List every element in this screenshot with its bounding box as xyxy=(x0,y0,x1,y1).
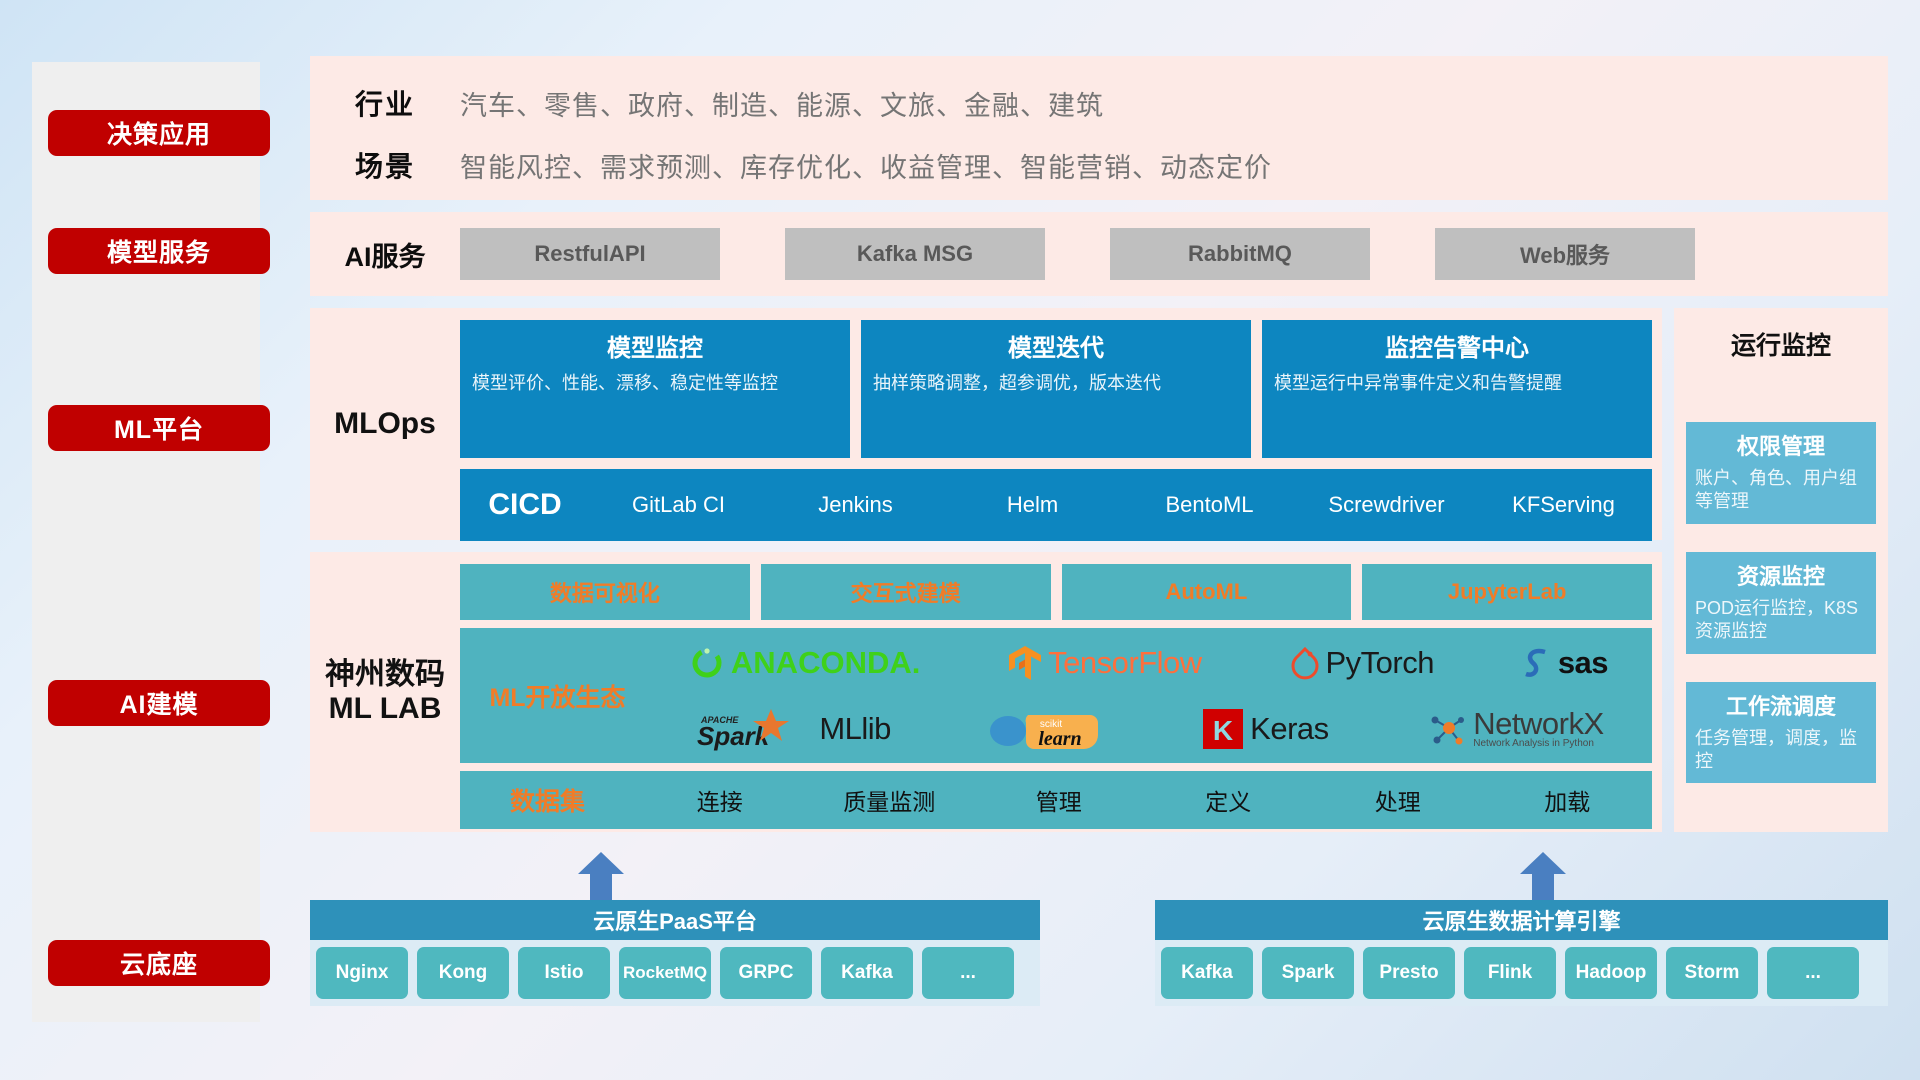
svg-text:Spark: Spark xyxy=(697,721,771,751)
paas-chip-istio[interactable]: Istio xyxy=(518,947,610,999)
cicd-item-screwdriver[interactable]: Screwdriver xyxy=(1298,493,1475,517)
mlops-card-model-iteration[interactable]: 模型迭代 抽样策略调整，超参调优，版本迭代 xyxy=(861,320,1251,458)
tensorflow-icon xyxy=(1008,644,1042,682)
ai-service-band: AI服务 RestfulAPI Kafka MSG RabbitMQ Web服务 xyxy=(310,212,1888,296)
scenario-row: 场景 智能风控、需求预测、库存优化、收益管理、智能营销、动态定价 xyxy=(310,140,1888,190)
scikit-learn-logo: scikit learn xyxy=(988,707,1106,751)
tool-chip-data-visualization[interactable]: 数据可视化 xyxy=(460,564,750,620)
anaconda-wordmark: ANACONDA. xyxy=(731,645,920,681)
dataset-item-manage[interactable]: 管理 xyxy=(974,783,1144,817)
ml-ecosystem-logo-row-2: APACHE Spark MLlib xyxy=(645,697,1652,761)
data-compute-engine-column: 云原生数据计算引擎 Kafka Spark Presto Flink Hadoo… xyxy=(1155,900,1888,1006)
monitoring-card-permissions[interactable]: 权限管理 账户、角色、用户组等管理 xyxy=(1686,422,1876,524)
data-compute-engine-title: 云原生数据计算引擎 xyxy=(1155,900,1888,940)
card-title: 模型监控 xyxy=(472,328,838,363)
scenario-label: 场景 xyxy=(310,145,460,185)
stage-chip-model-service[interactable]: 模型服务 xyxy=(48,228,270,274)
dataset-item-process[interactable]: 处理 xyxy=(1313,783,1483,817)
pytorch-wordmark: PyTorch xyxy=(1326,645,1434,681)
tool-chip-jupyterlab[interactable]: JupyterLab xyxy=(1362,564,1652,620)
cicd-title: CICD xyxy=(460,488,590,522)
stage-chip-label: 决策应用 xyxy=(107,115,211,151)
card-title: 工作流调度 xyxy=(1695,689,1867,721)
ai-service-label: AI服务 xyxy=(310,235,460,274)
up-arrow-icon-compute xyxy=(1520,852,1566,902)
cicd-bar: CICD GitLab CI Jenkins Helm BentoML Scre… xyxy=(460,469,1652,541)
runtime-monitoring-title: 运行监控 xyxy=(1686,318,1876,376)
paas-chip-grpc[interactable]: GRPC xyxy=(720,947,812,999)
mlops-card-model-monitoring[interactable]: 模型监控 模型评价、性能、漂移、稳定性等监控 xyxy=(460,320,850,458)
stage-chip-ml-platform[interactable]: ML平台 xyxy=(48,405,270,451)
ml-lab-label-line2: ML LAB xyxy=(329,692,442,727)
paas-chip-kong[interactable]: Kong xyxy=(417,947,509,999)
keras-logo: K Keras xyxy=(1202,708,1328,750)
keras-wordmark: Keras xyxy=(1250,711,1328,747)
stage-chip-label: 云底座 xyxy=(120,945,198,981)
cicd-item-gitlab-ci[interactable]: GitLab CI xyxy=(590,493,767,517)
industry-values: 汽车、零售、政府、制造、能源、文旅、金融、建筑 xyxy=(460,84,1104,123)
scenario-values: 智能风控、需求预测、库存优化、收益管理、智能营销、动态定价 xyxy=(460,146,1272,185)
keras-icon: K xyxy=(1202,708,1244,750)
stage-chip-label: 模型服务 xyxy=(107,233,211,269)
networkx-icon xyxy=(1425,708,1467,750)
sas-icon xyxy=(1522,646,1552,680)
networkx-logo: NetworkX Network Analysis in Python xyxy=(1425,708,1603,750)
dataset-row: 数据集 连接 质量监测 管理 定义 处理 加载 xyxy=(460,771,1652,829)
tensorflow-wordmark: TensorFlow xyxy=(1048,645,1202,681)
networkx-tagline: Network Analysis in Python xyxy=(1473,739,1603,749)
paas-platform-title: 云原生PaaS平台 xyxy=(310,900,1040,940)
tool-chip-list: 数据可视化 交互式建模 AutoML JupyterLab xyxy=(460,564,1652,620)
spark-icon: APACHE Spark xyxy=(693,707,813,751)
mlops-label: MLOps xyxy=(310,320,460,528)
dataset-item-quality[interactable]: 质量监测 xyxy=(805,783,975,817)
compute-chip-flink[interactable]: Flink xyxy=(1464,947,1556,999)
networkx-wordmark-block: NetworkX Network Analysis in Python xyxy=(1473,708,1603,749)
dataset-label: 数据集 xyxy=(460,782,635,818)
dataset-item-define[interactable]: 定义 xyxy=(1144,783,1314,817)
svg-text:K: K xyxy=(1213,715,1233,746)
cicd-item-bentoml[interactable]: BentoML xyxy=(1121,493,1298,517)
up-arrow-icon-paas xyxy=(578,852,624,902)
mllib-wordmark: MLlib xyxy=(819,711,891,747)
compute-chip-tray: Kafka Spark Presto Flink Hadoop Storm ..… xyxy=(1155,940,1888,1006)
tensorflow-logo: TensorFlow xyxy=(1008,644,1202,682)
mlops-body: 模型监控 模型评价、性能、漂移、稳定性等监控 模型迭代 抽样策略调整，超参调优，… xyxy=(460,320,1662,528)
card-title: 资源监控 xyxy=(1695,559,1867,591)
industry-label: 行业 xyxy=(310,83,460,123)
paas-chip-tray: Nginx Kong Istio RocketMQ GRPC Kafka ... xyxy=(310,940,1040,1006)
compute-chip-storm[interactable]: Storm xyxy=(1666,947,1758,999)
card-desc: 账户、角色、用户组等管理 xyxy=(1695,467,1867,514)
card-desc: 抽样策略调整，超参调优，版本迭代 xyxy=(873,372,1239,396)
sas-logo: sas xyxy=(1522,645,1608,681)
ai-service-chip-web-service[interactable]: Web服务 xyxy=(1435,228,1695,280)
paas-chip-rocketmq[interactable]: RocketMQ xyxy=(619,947,711,999)
card-title: 监控告警中心 xyxy=(1274,328,1640,363)
stage-chip-ai-modeling[interactable]: AI建模 xyxy=(48,680,270,726)
ai-service-chip-kafka-msg[interactable]: Kafka MSG xyxy=(785,228,1045,280)
stage-rail xyxy=(32,62,260,1022)
compute-chip-kafka[interactable]: Kafka xyxy=(1161,947,1253,999)
spark-mllib-logo: APACHE Spark MLlib xyxy=(693,707,891,751)
paas-chip-nginx[interactable]: Nginx xyxy=(316,947,408,999)
anaconda-icon xyxy=(689,645,725,681)
tool-chip-automl[interactable]: AutoML xyxy=(1062,564,1352,620)
cicd-item-list: GitLab CI Jenkins Helm BentoML Screwdriv… xyxy=(590,493,1652,517)
compute-chip-presto[interactable]: Presto xyxy=(1363,947,1455,999)
card-desc: 模型评价、性能、漂移、稳定性等监控 xyxy=(472,372,838,396)
ml-ecosystem-row: ML开放生态 ANACONDA. xyxy=(460,628,1652,763)
tool-chip-interactive-modeling[interactable]: 交互式建模 xyxy=(761,564,1051,620)
stage-chip-decision-apps[interactable]: 决策应用 xyxy=(48,110,270,156)
stage-chip-label: ML平台 xyxy=(114,410,204,446)
compute-chip-more[interactable]: ... xyxy=(1767,947,1859,999)
monitoring-card-resources[interactable]: 资源监控 POD运行监控，K8S资源监控 xyxy=(1686,552,1876,654)
dataset-item-load[interactable]: 加载 xyxy=(1483,783,1653,817)
monitoring-card-workflow[interactable]: 工作流调度 任务管理，调度，监控 xyxy=(1686,682,1876,784)
card-title: 权限管理 xyxy=(1695,429,1867,461)
runtime-monitoring-panel: 运行监控 权限管理 账户、角色、用户组等管理 资源监控 POD运行监控，K8S资… xyxy=(1674,308,1888,832)
pytorch-icon xyxy=(1290,645,1320,681)
modeling-body: 数据可视化 交互式建模 AutoML JupyterLab ML开放生态 xyxy=(460,564,1662,820)
ai-service-chip-rabbitmq[interactable]: RabbitMQ xyxy=(1110,228,1370,280)
industry-row: 行业 汽车、零售、政府、制造、能源、文旅、金融、建筑 xyxy=(310,78,1888,128)
cicd-item-kfserving[interactable]: KFServing xyxy=(1475,493,1652,517)
svg-text:learn: learn xyxy=(1038,728,1081,750)
cloud-foundation-section: 云原生PaaS平台 Nginx Kong Istio RocketMQ GRPC… xyxy=(310,900,1888,1020)
mlops-card-list: 模型监控 模型评价、性能、漂移、稳定性等监控 模型迭代 抽样策略调整，超参调优，… xyxy=(460,320,1652,458)
sas-wordmark: sas xyxy=(1558,645,1608,681)
compute-chip-hadoop[interactable]: Hadoop xyxy=(1565,947,1657,999)
networkx-wordmark: NetworkX xyxy=(1473,708,1603,739)
ai-service-chip-restfulapi[interactable]: RestfulAPI xyxy=(460,228,720,280)
decision-applications-band: 行业 汽车、零售、政府、制造、能源、文旅、金融、建筑 场景 智能风控、需求预测、… xyxy=(310,56,1888,200)
stage-chip-cloud-base[interactable]: 云底座 xyxy=(48,940,270,986)
ml-lab-label-line1: 神州数码 xyxy=(325,658,445,693)
cicd-item-helm[interactable]: Helm xyxy=(944,493,1121,517)
ml-lab-label: 神州数码 ML LAB xyxy=(310,564,460,820)
ml-ecosystem-logo-row-1: ANACONDA. TensorFlow xyxy=(645,631,1652,695)
pytorch-logo: PyTorch xyxy=(1290,645,1434,681)
ml-ecosystem-logos: ANACONDA. TensorFlow xyxy=(645,631,1652,761)
compute-chip-spark[interactable]: Spark xyxy=(1262,947,1354,999)
paas-platform-column: 云原生PaaS平台 Nginx Kong Istio RocketMQ GRPC… xyxy=(310,900,1040,1006)
mlops-band: MLOps 模型监控 模型评价、性能、漂移、稳定性等监控 模型迭代 抽样策略调整… xyxy=(310,308,1662,540)
paas-chip-more[interactable]: ... xyxy=(922,947,1014,999)
dataset-item-list: 连接 质量监测 管理 定义 处理 加载 xyxy=(635,783,1652,817)
scikit-learn-icon: scikit learn xyxy=(988,707,1106,751)
card-desc: 任务管理，调度，监控 xyxy=(1695,727,1867,774)
card-desc: POD运行监控，K8S资源监控 xyxy=(1695,597,1867,644)
card-desc: 模型运行中异常事件定义和告警提醒 xyxy=(1274,372,1640,396)
cicd-item-jenkins[interactable]: Jenkins xyxy=(767,493,944,517)
paas-chip-kafka[interactable]: Kafka xyxy=(821,947,913,999)
ai-service-list: RestfulAPI Kafka MSG RabbitMQ Web服务 xyxy=(460,228,1888,280)
ai-modeling-band: 神州数码 ML LAB 数据可视化 交互式建模 AutoML JupyterLa… xyxy=(310,552,1662,832)
card-title: 模型迭代 xyxy=(873,328,1239,363)
dataset-item-connect[interactable]: 连接 xyxy=(635,783,805,817)
ml-ecosystem-label: ML开放生态 xyxy=(470,678,645,714)
anaconda-logo: ANACONDA. xyxy=(689,645,920,681)
stage-chip-label: AI建模 xyxy=(119,685,198,721)
mlops-card-alert-center[interactable]: 监控告警中心 模型运行中异常事件定义和告警提醒 xyxy=(1262,320,1652,458)
